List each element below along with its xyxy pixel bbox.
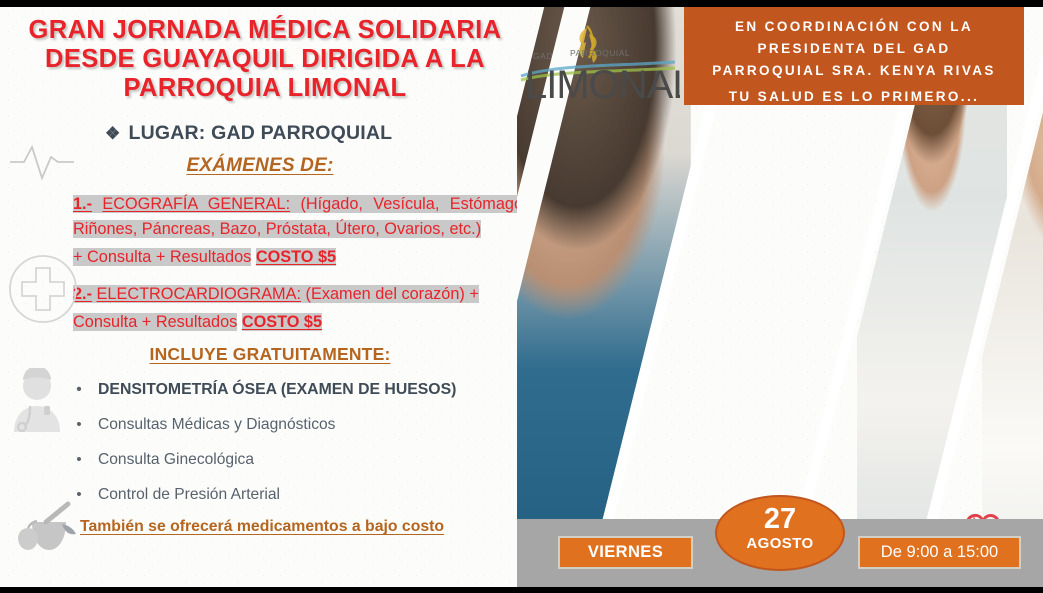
exam-1-name: ECOGRAFÍA GENERAL: bbox=[102, 195, 290, 213]
exam-1-extra: + Consulta + Resultados bbox=[73, 248, 251, 266]
title-line-3: PARROQUIA LIMONAL bbox=[20, 74, 510, 103]
logo-name: LIMONAL bbox=[525, 63, 680, 107]
list-item: • Control de Presión Arterial bbox=[60, 485, 530, 505]
medical-cross-icon bbox=[6, 252, 80, 331]
logo-top-text-2: PARROQUIAL bbox=[570, 48, 630, 58]
diamond-bullet-icon: ❖ bbox=[105, 124, 120, 143]
footer-bar: VIERNES 27 AGOSTO De 9:00 a 15:00 bbox=[517, 519, 1043, 587]
exam-2-cost: COSTO $5 bbox=[242, 313, 322, 331]
bullet-icon: • bbox=[60, 450, 98, 470]
exam-item-1: 1.- ECOGRAFÍA GENERAL: (Hígado, Vesícula… bbox=[73, 192, 585, 242]
flyer-canvas: GRAN JORNADA MÉDICA SOLIDARIA DESDE GUAY… bbox=[0, 0, 1043, 593]
footer-hours: De 9:00 a 15:00 bbox=[858, 536, 1021, 569]
flyer-title: GRAN JORNADA MÉDICA SOLIDARIA DESDE GUAY… bbox=[20, 16, 510, 103]
location-line: ❖LUGAR: GAD PARROQUIAL bbox=[105, 122, 392, 145]
footer-date-badge: 27 AGOSTO bbox=[715, 495, 845, 571]
exam-item-2: 2.- ELECTROCARDIOGRAMA: (Examen del cora… bbox=[73, 282, 585, 307]
title-line-2: DESDE GUAYAQUIL DIRIGIDA A LA bbox=[20, 45, 510, 74]
footer-date-month: AGOSTO bbox=[717, 535, 843, 552]
exam-2-detail: (Examen del corazón) + bbox=[306, 285, 479, 303]
mortar-pestle-apple-icon bbox=[10, 500, 82, 565]
banner-line-3: PARROQUIAL SRA. KENYA RIVAS bbox=[684, 60, 1024, 82]
banner-line-2: PRESIDENTA DEL GAD bbox=[684, 38, 1024, 60]
exam-1-number: 1.- bbox=[73, 195, 92, 213]
title-line-1: GRAN JORNADA MÉDICA SOLIDARIA bbox=[20, 16, 510, 45]
medications-note: También se ofrecerá medicamentos a bajo … bbox=[80, 518, 444, 536]
includes-list: • DENSITOMETRÍA ÓSEA (EXAMEN DE HUESOS) … bbox=[60, 380, 530, 520]
exams-block: 1.- ECOGRAFÍA GENERAL: (Hígado, Vesícula… bbox=[73, 192, 585, 335]
banner-line-1: EN COORDINACIÓN CON LA bbox=[684, 16, 1024, 38]
logo-top-text: GAD bbox=[533, 51, 553, 61]
coordination-banner: EN COORDINACIÓN CON LA PRESIDENTA DEL GA… bbox=[684, 7, 1024, 105]
include-label-0: DENSITOMETRÍA ÓSEA (EXAMEN DE HUESOS) bbox=[98, 380, 456, 400]
heartbeat-icon bbox=[8, 138, 76, 187]
exam-2-extra: Consulta + Resultados bbox=[73, 313, 237, 331]
exam-1-cost: COSTO $5 bbox=[256, 248, 336, 266]
include-label-3: Control de Presión Arterial bbox=[98, 485, 280, 505]
bottom-black-strip bbox=[0, 587, 1043, 593]
exam-2-name: ELECTROCARDIOGRAMA: bbox=[97, 285, 301, 303]
exams-heading: EXÁMENES DE: bbox=[0, 155, 520, 177]
gad-limonal-logo: GAD PARROQUIAL LIMONAL bbox=[515, 14, 680, 110]
exam-1-extra-line: + Consulta + Resultados COSTO $5 bbox=[73, 245, 585, 270]
footer-day: VIERNES bbox=[558, 536, 693, 569]
footer-date-number: 27 bbox=[717, 504, 843, 535]
exam-2-extra-line: Consulta + Resultados COSTO $5 bbox=[73, 310, 585, 335]
include-label-1: Consultas Médicas y Diagnósticos bbox=[98, 415, 335, 435]
top-black-strip bbox=[0, 0, 1043, 7]
includes-heading: INCLUYE GRATUITAMENTE: bbox=[0, 344, 540, 365]
list-item: • Consultas Médicas y Diagnósticos bbox=[60, 415, 530, 435]
include-label-2: Consulta Ginecológica bbox=[98, 450, 254, 470]
list-item: • Consulta Ginecológica bbox=[60, 450, 530, 470]
location-text: LUGAR: GAD PARROQUIAL bbox=[128, 122, 392, 144]
list-item: • DENSITOMETRÍA ÓSEA (EXAMEN DE HUESOS) bbox=[60, 380, 530, 400]
banner-line-4: TU SALUD ES LO PRIMERO... bbox=[684, 86, 1024, 108]
doctor-avatar-icon bbox=[6, 368, 68, 441]
